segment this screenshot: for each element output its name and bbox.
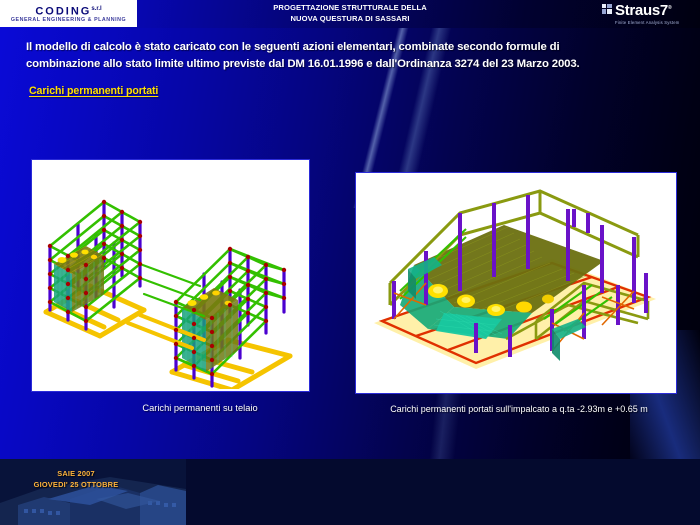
- coding-company-logo: CODINGs.r.l GENERAL ENGINEERING & PLANNI…: [0, 0, 137, 27]
- header-title-line1: PROGETTAZIONE STRUTTURALE DELLA: [200, 3, 500, 14]
- figure-deck-model: [355, 172, 677, 394]
- intro-line-1: Il modello di calcolo è stato caricato c…: [26, 39, 678, 56]
- straus7-logo-tagline: Finite Element Analysis System: [615, 20, 679, 26]
- figure-left-caption: Carichi permanenti su telaio: [60, 402, 340, 414]
- straus7-logo: Straus7® Finite Element Analysis System: [602, 1, 694, 27]
- intro-line-2: combinazione allo stato limite ultimo pr…: [26, 56, 678, 73]
- event-info: SAIE 2007 GIOVEDI' 25 OTTOBRE: [6, 468, 146, 490]
- header-title: PROGETTAZIONE STRUTTURALE DELLA NUOVA QU…: [200, 3, 500, 24]
- coding-logo-suffix: s.r.l: [91, 6, 101, 12]
- slide-footer: SAIE 2007 GIOVEDI' 25 OTTOBRE: [0, 459, 700, 525]
- presentation-slide: CODINGs.r.l GENERAL ENGINEERING & PLANNI…: [0, 0, 700, 525]
- event-name: SAIE 2007: [6, 468, 146, 479]
- straus7-logo-name: Straus7®: [615, 2, 671, 19]
- straus7-checker-icon: [602, 4, 613, 15]
- slide-header: CODINGs.r.l GENERAL ENGINEERING & PLANNI…: [0, 0, 700, 28]
- coding-logo-tagline: GENERAL ENGINEERING & PLANNING: [11, 17, 126, 24]
- header-title-line2: NUOVA QUESTURA DI SASSARI: [200, 14, 500, 25]
- intro-paragraph: Il modello di calcolo è stato caricato c…: [26, 39, 678, 73]
- straus7-logo-text-wrap: Straus7® Finite Element Analysis System: [615, 1, 679, 26]
- figure-frame-model: [31, 159, 310, 392]
- figure-right-caption: Carichi permanenti portati sull'impalcat…: [340, 403, 698, 415]
- fem-deck-model-image: [356, 173, 674, 391]
- coding-logo-main: CODINGs.r.l: [35, 3, 101, 18]
- fem-frame-model-image: [32, 160, 307, 389]
- section-subheading: Carichi permanenti portati: [29, 85, 158, 97]
- event-date: GIOVEDI' 25 OTTOBRE: [6, 479, 146, 490]
